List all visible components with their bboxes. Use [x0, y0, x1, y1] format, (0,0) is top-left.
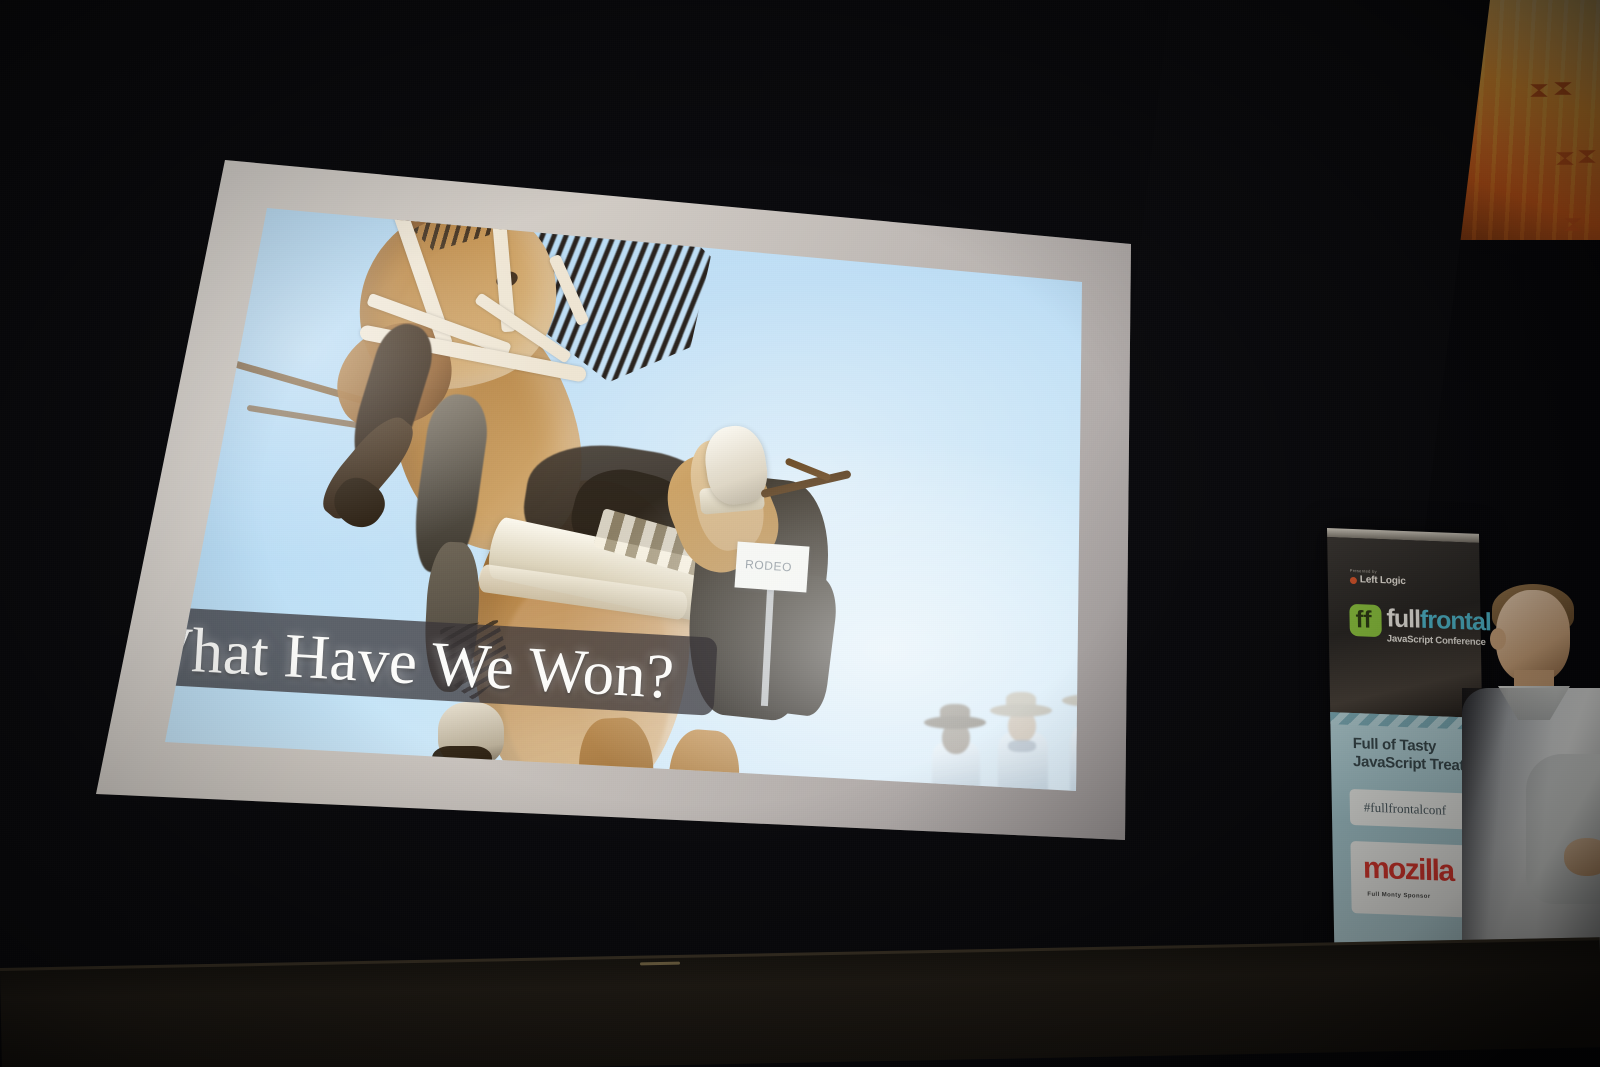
- banner-tagline-line1: Full of Tasty: [1353, 735, 1437, 755]
- sponsor-wordmark: mozilla: [1363, 851, 1454, 889]
- banner-hashtag-box: #fullfrontalconf: [1350, 789, 1479, 830]
- sponsor-tier-label: Full Monty Sponsor: [1367, 892, 1430, 900]
- speaker-person: [1468, 590, 1600, 990]
- presented-by-label: Presented by: [1350, 568, 1377, 574]
- ff-logo-mark: ff: [1349, 604, 1382, 637]
- projection-screen: RODEO: [96, 150, 1131, 840]
- banner-hashtag: #fullfrontalconf: [1364, 799, 1447, 818]
- banner-upper-panel: Presented by Left Logic ff fullfrontal J…: [1327, 537, 1482, 718]
- logo-word-full: full: [1386, 604, 1420, 633]
- conference-photo-scene: RODEO: [0, 0, 1600, 1067]
- ff-logo-letters: ff: [1355, 606, 1371, 635]
- sponsor-box: mozilla Full Monty Sponsor: [1350, 841, 1479, 918]
- speaker-head: [1496, 590, 1570, 682]
- left-logic-dot-icon: [1350, 577, 1357, 584]
- left-logic-wordmark: Left Logic: [1360, 574, 1406, 587]
- speaker-ear: [1490, 628, 1506, 650]
